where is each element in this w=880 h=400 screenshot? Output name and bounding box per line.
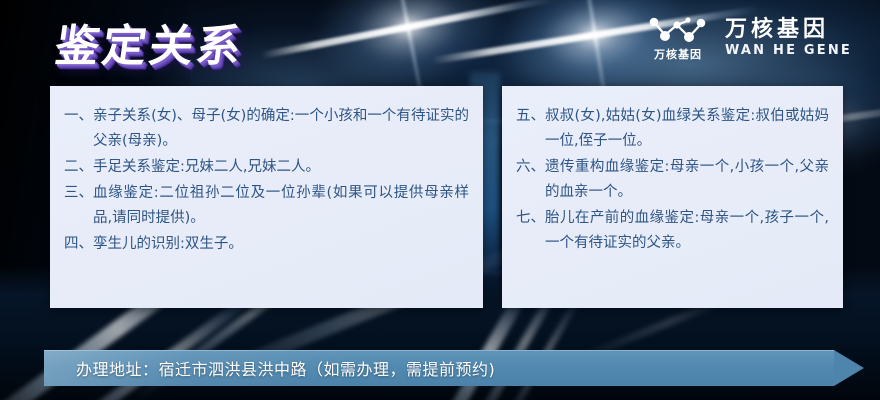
address-banner-text: 办理地址：宿迁市泗洪县洪中路（如需办理，需提前预约) (76, 350, 495, 386)
brand-mark-label: 万核基因 (654, 49, 702, 60)
slide-canvas: 鉴定关系 (0, 0, 880, 400)
brand-wordmark: 万核基因 WAN HE GENE (725, 19, 852, 57)
list-item: 一、 亲子关系(女)、母子(女)的确定:一个小孩和一个有待证实的父亲(母亲)。 (64, 104, 469, 154)
relation-list-panel-right: 五、 叔叔(女),姑姑(女)血绿关系鉴定:叔伯或姑妈一位,侄子一位。 六、 遗传… (502, 86, 843, 308)
list-item: 四、 孪生儿的识别:双生子。 (64, 232, 469, 257)
list-item: 五、 叔叔(女),姑姑(女)血绿关系鉴定:叔伯或姑妈一位,侄子一位。 (516, 104, 829, 154)
list-item-number: 六、 (516, 155, 545, 180)
list-item: 六、 遗传重构血缘鉴定:母亲一个,小孩一个,父亲的血亲一个。 (516, 155, 829, 205)
list-item-text: 胎儿在产前的血缘鉴定:母亲一个,孩子一个,一个有待证实的父亲。 (545, 206, 829, 256)
brand-name-cn: 万核基因 (725, 19, 829, 41)
list-item-text: 亲子关系(女)、母子(女)的确定:一个小孩和一个有待证实的父亲(母亲)。 (93, 104, 469, 154)
list-item-number: 一、 (64, 104, 93, 129)
address-banner: 办理地址：宿迁市泗洪县洪中路（如需办理，需提前预约) (44, 350, 864, 386)
list-item-number: 七、 (516, 206, 545, 231)
relation-list-panel-left: 一、 亲子关系(女)、母子(女)的确定:一个小孩和一个有待证实的父亲(母亲)。 … (50, 86, 483, 308)
brand-mark: 万核基因 (647, 16, 709, 60)
address-banner-arrow-icon (834, 350, 864, 386)
list-item-number: 五、 (516, 104, 545, 129)
list-item-text: 孪生儿的识别:双生子。 (93, 232, 469, 257)
list-item: 三、 血缘鉴定:二位祖孙二位及一位孙辈(如果可以提供母亲样品,请同时提供)。 (64, 181, 469, 231)
list-item-text: 手足关系鉴定:兄妹二人,兄妹二人。 (93, 155, 469, 180)
list-item-text: 血缘鉴定:二位祖孙二位及一位孙辈(如果可以提供母亲样品,请同时提供)。 (93, 181, 469, 231)
list-item-number: 三、 (64, 181, 93, 206)
list-item: 七、 胎儿在产前的血缘鉴定:母亲一个,孩子一个,一个有待证实的父亲。 (516, 206, 829, 256)
list-item-text: 叔叔(女),姑姑(女)血绿关系鉴定:叔伯或姑妈一位,侄子一位。 (545, 104, 829, 154)
list-item-text: 遗传重构血缘鉴定:母亲一个,小孩一个,父亲的血亲一个。 (545, 155, 829, 205)
list-item-number: 四、 (64, 232, 93, 257)
brand-logo: 万核基因 万核基因 WAN HE GENE (647, 16, 852, 60)
page-title: 鉴定关系 (52, 10, 249, 74)
list-item-number: 二、 (64, 155, 93, 180)
list-item: 二、 手足关系鉴定:兄妹二人,兄妹二人。 (64, 155, 469, 180)
brand-name-en: WAN HE GENE (725, 44, 852, 57)
molecule-network-icon (647, 16, 709, 46)
